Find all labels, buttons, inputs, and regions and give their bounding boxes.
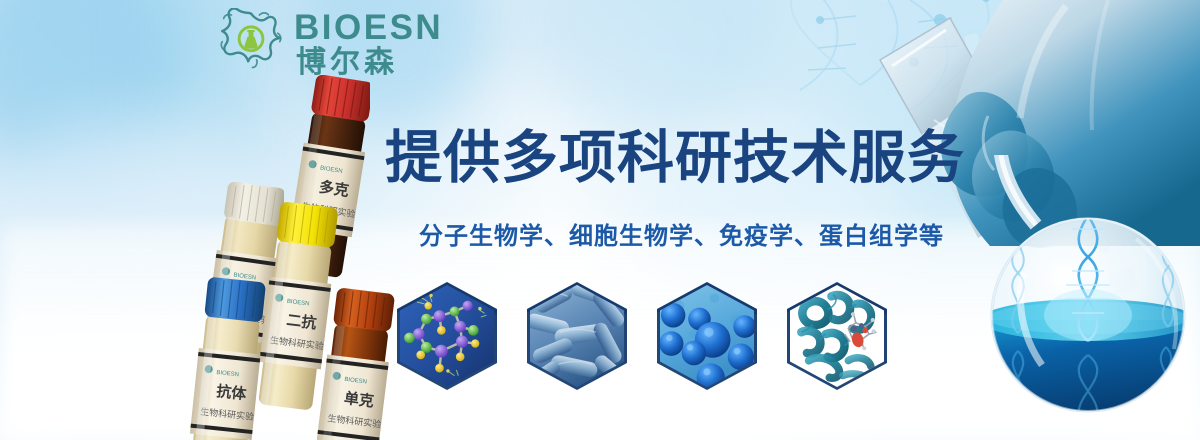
hexagon-molecular-structure[interactable]	[397, 282, 497, 390]
antibody-vials-group: BIOESN 多克 生物科研实验	[190, 70, 400, 410]
svg-text:单克: 单克	[343, 389, 375, 411]
bioesn-service-banner: BIOESN 多克 生物科研实验	[0, 0, 1200, 440]
page-title: 提供多项科研技术服务	[385, 128, 945, 190]
vial-antibody-blue: BIOESN 抗体 生物科研实验	[184, 277, 268, 440]
brand-name-en: BIOESN	[294, 10, 443, 45]
page-subtitle: 分子生物学、细胞生物学、免疫学、蛋白组学等	[419, 216, 945, 251]
brand-logo[interactable]: BIOESN 博尔森	[216, 8, 443, 78]
svg-text:抗体: 抗体	[216, 382, 249, 403]
hexagon-cells[interactable]	[657, 282, 757, 390]
hexagon-protein[interactable]	[787, 282, 887, 390]
hexagon-bacteria[interactable]	[527, 282, 627, 390]
brand-name-cn: 博尔森	[294, 48, 443, 78]
headline-block: 提供多项科研技术服务 分子生物学、细胞生物学、免疫学、蛋白组学等	[385, 128, 945, 251]
background-blur-shape	[520, 0, 780, 130]
vial-monoclonal: BIOESN 单克 生物科研实验	[312, 288, 396, 440]
service-hexagon-row	[397, 282, 887, 390]
background-blur-shape	[0, 0, 190, 190]
bioesn-pinwheel-flask-logo-icon	[216, 8, 286, 78]
flask-with-dna-image	[960, 155, 1200, 440]
